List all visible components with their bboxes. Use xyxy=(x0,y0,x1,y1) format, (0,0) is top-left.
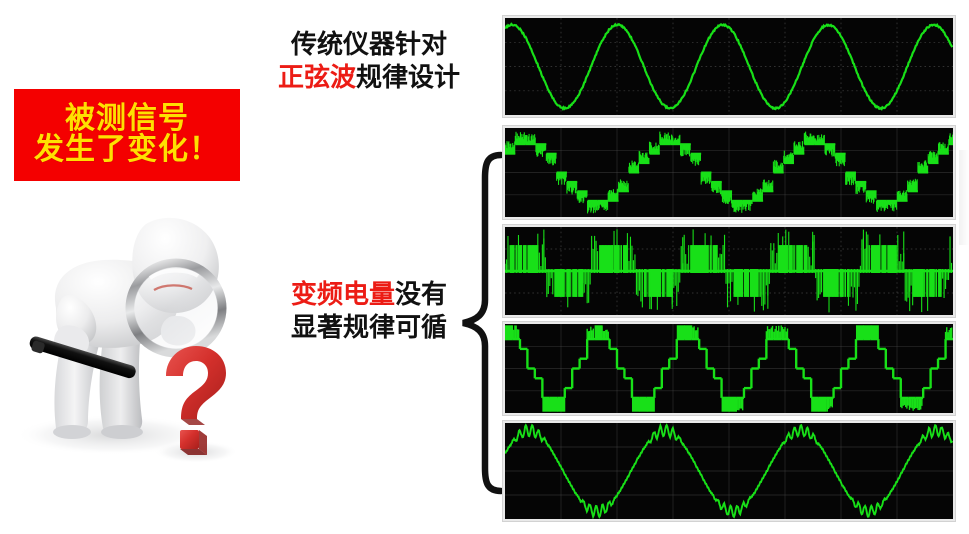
caption-bottom-line-2: 显著规律可循 xyxy=(262,311,476,344)
scope-panel-1-plot xyxy=(505,18,953,115)
caption-variable-frequency: 变频电量没有 显著规律可循 xyxy=(262,278,476,344)
caption-bottom-line-1: 变频电量没有 xyxy=(262,278,476,311)
scope-panel-5-plot xyxy=(505,423,953,519)
caption-bottom-highlight: 变频电量 xyxy=(291,279,395,309)
caption-top-text-2: 规律设计 xyxy=(356,62,460,92)
scope-panel-2-plot xyxy=(505,128,953,217)
caption-top-line-1: 传统仪器针对 xyxy=(262,28,476,61)
alert-banner-line-2: 发生了变化！ xyxy=(34,135,220,166)
alert-banner: 被测信号 发生了变化！ xyxy=(14,89,240,181)
caption-bottom-text-1: 没有 xyxy=(395,279,447,309)
scope-panel-5 xyxy=(503,421,955,521)
caption-top-highlight: 正弦波 xyxy=(278,62,356,92)
mascot-foot-left xyxy=(53,425,91,439)
caption-top-line-2: 正弦波规律设计 xyxy=(262,61,476,94)
slide-edge-sliver xyxy=(959,150,969,245)
magnifier-lens xyxy=(130,263,222,353)
scope-panel-2 xyxy=(503,126,955,219)
brace-shape xyxy=(455,150,507,496)
scope-panel-3 xyxy=(503,225,955,317)
mascot-figure-with-magnifier xyxy=(0,190,262,529)
scope-panel-3-plot xyxy=(505,227,953,315)
scope-panel-4-plot xyxy=(505,324,953,413)
alert-banner-line-1: 被测信号 xyxy=(65,104,189,135)
mascot-foot-right xyxy=(101,425,143,439)
scope-panel-4 xyxy=(503,322,955,415)
caption-top-text-1: 传统仪器针对 xyxy=(291,29,447,59)
caption-bottom-text-2: 显著规律可循 xyxy=(291,312,447,342)
grouping-brace xyxy=(455,150,507,496)
scope-panel-1 xyxy=(503,16,955,117)
caption-traditional-instruments: 传统仪器针对 正弦波规律设计 xyxy=(262,28,476,94)
scope-grid xyxy=(505,18,953,115)
mascot-leg-right xyxy=(100,340,143,436)
mascot-illustration xyxy=(0,190,262,529)
scope-grid xyxy=(505,423,953,519)
